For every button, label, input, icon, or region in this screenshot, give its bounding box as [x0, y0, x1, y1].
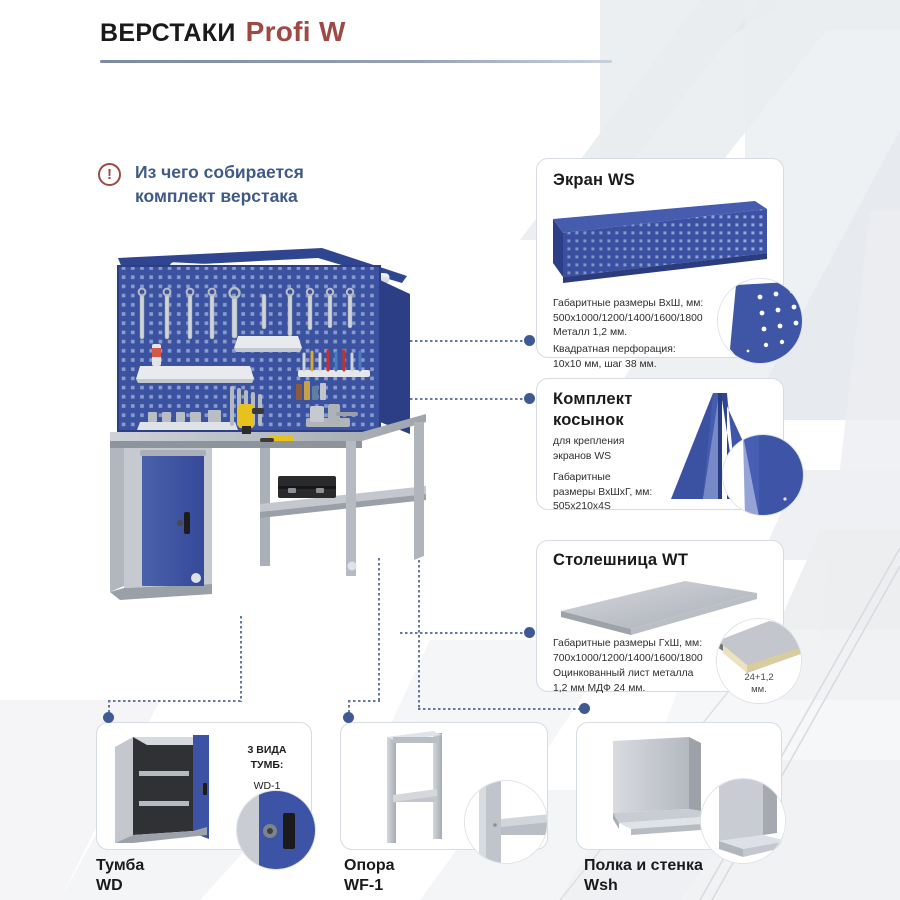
poster-page: ВЕРСТАКИProfi W ! Из чего собирается ком…	[0, 0, 900, 900]
magnifier-bracket-kit	[722, 434, 804, 516]
intro-line-1: Из чего собирается	[135, 160, 304, 184]
label-tumba-wd: Тумба WD	[96, 856, 144, 896]
label-opora-wf1: Опора WF-1	[344, 856, 395, 896]
card-bracket-kit-sub: для крепления экранов WS	[553, 435, 624, 464]
connector-dot-wsh	[579, 703, 590, 714]
screen-ws-image	[549, 197, 775, 289]
bracket-title-l2: косынок	[553, 410, 632, 431]
intro-text: Из чего собирается комплект верстака	[135, 160, 304, 208]
card-bracket-kit-title: Комплект косынок	[553, 389, 632, 431]
card-screen-ws-title: Экран WS	[553, 171, 635, 190]
tumba-note-l2: ТУМБ:	[229, 758, 305, 773]
exclamation-circle-icon: !	[98, 163, 121, 186]
sub-line: для крепления	[553, 435, 624, 450]
spec-line: Габаритные	[553, 471, 652, 486]
label-line-1: Опора	[344, 856, 395, 876]
connector-line-tumba-h	[108, 700, 242, 702]
spec-line: размеры ВхШхГ, мм:	[553, 486, 652, 501]
workbench-illustration	[110, 236, 430, 636]
magnifier-worktop-caption: 24+1,2 мм.	[722, 672, 796, 696]
connector-dot-bracket	[524, 393, 535, 404]
tumba-note-l1: 3 ВИДА	[229, 743, 305, 758]
caption-line-2: мм.	[722, 684, 796, 696]
tumba-wd-image	[111, 731, 225, 847]
header-divider	[100, 60, 612, 63]
label-line-1: Полка и стенка	[584, 856, 703, 876]
connector-dot-tumba	[103, 712, 114, 723]
magnifier-wsh-joint	[700, 778, 786, 864]
label-polka-wsh: Полка и стенка Wsh	[584, 856, 703, 896]
label-line-2: Wsh	[584, 876, 703, 896]
caption-line-1: 24+1,2	[722, 672, 796, 684]
magnifier-screen-ws	[717, 278, 803, 364]
connector-line-wsh-h	[418, 708, 584, 710]
card-worktop-wt-specs: Габаритные размеры ГхШ, мм: 700х1000/120…	[553, 637, 703, 666]
intro-block: ! Из чего собирается комплект верстака	[98, 160, 304, 208]
magnifier-tumba-lock	[236, 790, 316, 870]
spec-line: 10х10 мм, шаг 38 мм.	[553, 358, 763, 373]
card-bracket-kit-specs: Габаритные размеры ВхШхГ, мм: 505х210х4S	[553, 471, 652, 515]
label-line-1: Тумба	[96, 856, 144, 876]
card-worktop-wt-specs2: Оцинкованный лист металла 1,2 мм МДФ 24 …	[553, 667, 693, 696]
connector-dot-opora	[343, 712, 354, 723]
spec-line: Оцинкованный лист металла	[553, 667, 693, 682]
spec-line: 1,2 мм МДФ 24 мм.	[553, 682, 693, 697]
spec-line: Габаритные размеры ГхШ, мм:	[553, 637, 703, 652]
connector-dot-screen	[524, 335, 535, 346]
magnifier-opora-joint	[464, 780, 548, 864]
title-main: ВЕРСТАКИ	[100, 19, 236, 47]
connector-line-opora-h	[348, 700, 380, 702]
spec-line: 505х210х4S	[553, 500, 652, 515]
label-line-2: WD	[96, 876, 144, 896]
card-worktop-wt-title: Столешница WT	[553, 551, 688, 570]
page-title: ВЕРСТАКИProfi W	[100, 16, 346, 48]
bracket-title-l1: Комплект	[553, 389, 632, 410]
title-brand: Profi W	[246, 16, 346, 47]
spec-line: 700х1000/1200/1400/1600/1800	[553, 652, 703, 667]
intro-line-2: комплект верстака	[135, 184, 304, 208]
connector-dot-worktop	[524, 627, 535, 638]
sub-line: экранов WS	[553, 450, 624, 465]
label-line-2: WF-1	[344, 876, 395, 896]
opora-wf1-image	[383, 729, 449, 847]
